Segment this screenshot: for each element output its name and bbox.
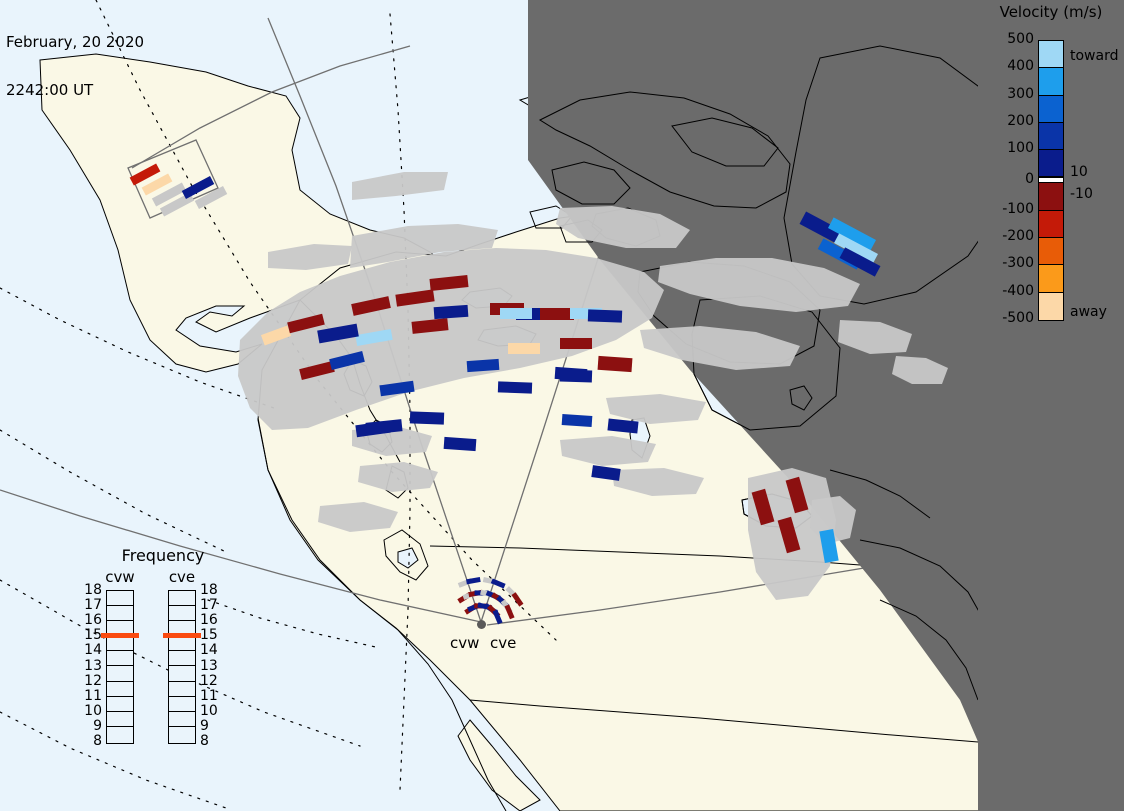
colorbar-tick-400: 400 bbox=[1007, 58, 1034, 74]
radar-cell bbox=[508, 343, 540, 354]
frequency-tick-right-14: 14 bbox=[200, 642, 222, 658]
frequency-cell bbox=[169, 666, 195, 681]
timestamp-block: February, 20 2020 2242:00 UT bbox=[6, 2, 144, 130]
frequency-box-cve bbox=[168, 590, 196, 744]
radar-cell bbox=[500, 308, 532, 319]
frequency-cell bbox=[169, 697, 195, 712]
colorbar-band-8 bbox=[1039, 238, 1063, 265]
frequency-tick-right-10: 10 bbox=[200, 703, 222, 719]
radar-cell bbox=[562, 414, 593, 427]
colorbar-band-3 bbox=[1039, 123, 1063, 150]
radar-cell bbox=[410, 411, 444, 424]
frequency-cell bbox=[107, 636, 133, 651]
colorbar-band-1 bbox=[1039, 68, 1063, 95]
frequency-cell bbox=[169, 682, 195, 697]
frequency-cell bbox=[107, 606, 133, 621]
colorbar-band-6 bbox=[1039, 183, 1063, 210]
colorbar-gradient bbox=[1038, 40, 1064, 321]
radar-cell bbox=[540, 308, 574, 320]
frequency-tick-left-17: 17 bbox=[80, 597, 102, 613]
radar-label-cve: cve bbox=[490, 634, 516, 652]
colorbar-band-2 bbox=[1039, 96, 1063, 123]
frequency-tick-right-12: 12 bbox=[200, 673, 222, 689]
timestamp-time: 2242:00 UT bbox=[6, 82, 144, 98]
frequency-cell bbox=[169, 636, 195, 651]
colorbar-band-4 bbox=[1039, 150, 1063, 177]
frequency-cell bbox=[107, 727, 133, 742]
colorbar-band-0 bbox=[1039, 41, 1063, 68]
colorbar-tick-neg300: -300 bbox=[1002, 255, 1034, 271]
radar-label-cvw: cvw bbox=[450, 634, 479, 652]
frequency-cell bbox=[169, 651, 195, 666]
frequency-cell bbox=[169, 712, 195, 727]
colorbar-away-label: away bbox=[1070, 304, 1107, 320]
radar-cell bbox=[560, 338, 592, 349]
frequency-cell bbox=[107, 682, 133, 697]
colorbar-tick-300: 300 bbox=[1007, 86, 1034, 102]
frequency-marker-cve bbox=[163, 633, 201, 638]
frequency-cell bbox=[169, 727, 195, 742]
frequency-tick-right-9: 9 bbox=[200, 718, 222, 734]
colorbar-upper-threshold: 10 bbox=[1070, 164, 1088, 180]
frequency-column-label-cvw: cvw bbox=[96, 568, 144, 586]
frequency-tick-left-16: 16 bbox=[80, 612, 102, 628]
radar-cell bbox=[434, 305, 469, 319]
colorbar-title: Velocity (m/s) bbox=[978, 3, 1124, 21]
frequency-tick-right-17: 17 bbox=[200, 597, 222, 613]
colorbar-tick-0: 0 bbox=[1025, 171, 1034, 187]
frequency-tick-right-13: 13 bbox=[200, 658, 222, 674]
frequency-tick-left-15: 15 bbox=[80, 627, 102, 643]
frequency-cell bbox=[107, 712, 133, 727]
frequency-cell bbox=[169, 606, 195, 621]
frequency-tick-right-8: 8 bbox=[200, 733, 222, 749]
frequency-tick-right-11: 11 bbox=[200, 688, 222, 704]
frequency-cell bbox=[107, 697, 133, 712]
colorbar-band-9 bbox=[1039, 265, 1063, 292]
colorbar-tick-neg100: -100 bbox=[1002, 201, 1034, 217]
colorbar-tick-neg500: -500 bbox=[1002, 310, 1034, 326]
frequency-tick-left-10: 10 bbox=[80, 703, 102, 719]
frequency-cell bbox=[169, 591, 195, 606]
radar-cell bbox=[598, 356, 633, 372]
frequency-tick-left-13: 13 bbox=[80, 658, 102, 674]
frequency-cell bbox=[107, 651, 133, 666]
frequency-column-label-cve: cve bbox=[158, 568, 206, 586]
colorbar-tick-neg400: -400 bbox=[1002, 283, 1034, 299]
frequency-tick-left-14: 14 bbox=[80, 642, 102, 658]
timestamp-date: February, 20 2020 bbox=[6, 34, 144, 50]
colorbar-toward-label: toward bbox=[1070, 48, 1118, 64]
colorbar-band-7 bbox=[1039, 211, 1063, 238]
colorbar-tick-neg200: -200 bbox=[1002, 228, 1034, 244]
frequency-tick-left-12: 12 bbox=[80, 673, 102, 689]
colorbar-tick-100: 100 bbox=[1007, 140, 1034, 156]
radar-cell bbox=[588, 309, 622, 322]
radar-cell bbox=[498, 381, 532, 393]
radar-cell bbox=[555, 367, 588, 381]
frequency-tick-right-16: 16 bbox=[200, 612, 222, 628]
radar-map-view: February, 20 2020 2242:00 UT cvw cve Fre… bbox=[0, 0, 1124, 811]
radar-site-dot bbox=[477, 620, 486, 629]
frequency-tick-right-15: 15 bbox=[200, 627, 222, 643]
frequency-tick-left-8: 8 bbox=[80, 733, 102, 749]
frequency-cell bbox=[107, 666, 133, 681]
frequency-box-cvw bbox=[106, 590, 134, 744]
frequency-tick-left-9: 9 bbox=[80, 718, 102, 734]
frequency-title: Frequency bbox=[88, 546, 238, 565]
frequency-tick-right-18: 18 bbox=[200, 582, 222, 598]
colorbar-tick-500: 500 bbox=[1007, 31, 1034, 47]
radar-cell bbox=[444, 437, 477, 451]
colorbar-lower-threshold: -10 bbox=[1070, 186, 1093, 202]
frequency-marker-cvw bbox=[101, 633, 139, 638]
radar-cell bbox=[467, 359, 500, 372]
colorbar-band-10 bbox=[1039, 293, 1063, 320]
colorbar-tick-200: 200 bbox=[1007, 113, 1034, 129]
velocity-colorbar-panel: Velocity (m/s) 5004003002001000-100-200-… bbox=[978, 0, 1124, 811]
frequency-cell bbox=[107, 591, 133, 606]
frequency-tick-left-18: 18 bbox=[80, 582, 102, 598]
frequency-tick-left-11: 11 bbox=[80, 688, 102, 704]
